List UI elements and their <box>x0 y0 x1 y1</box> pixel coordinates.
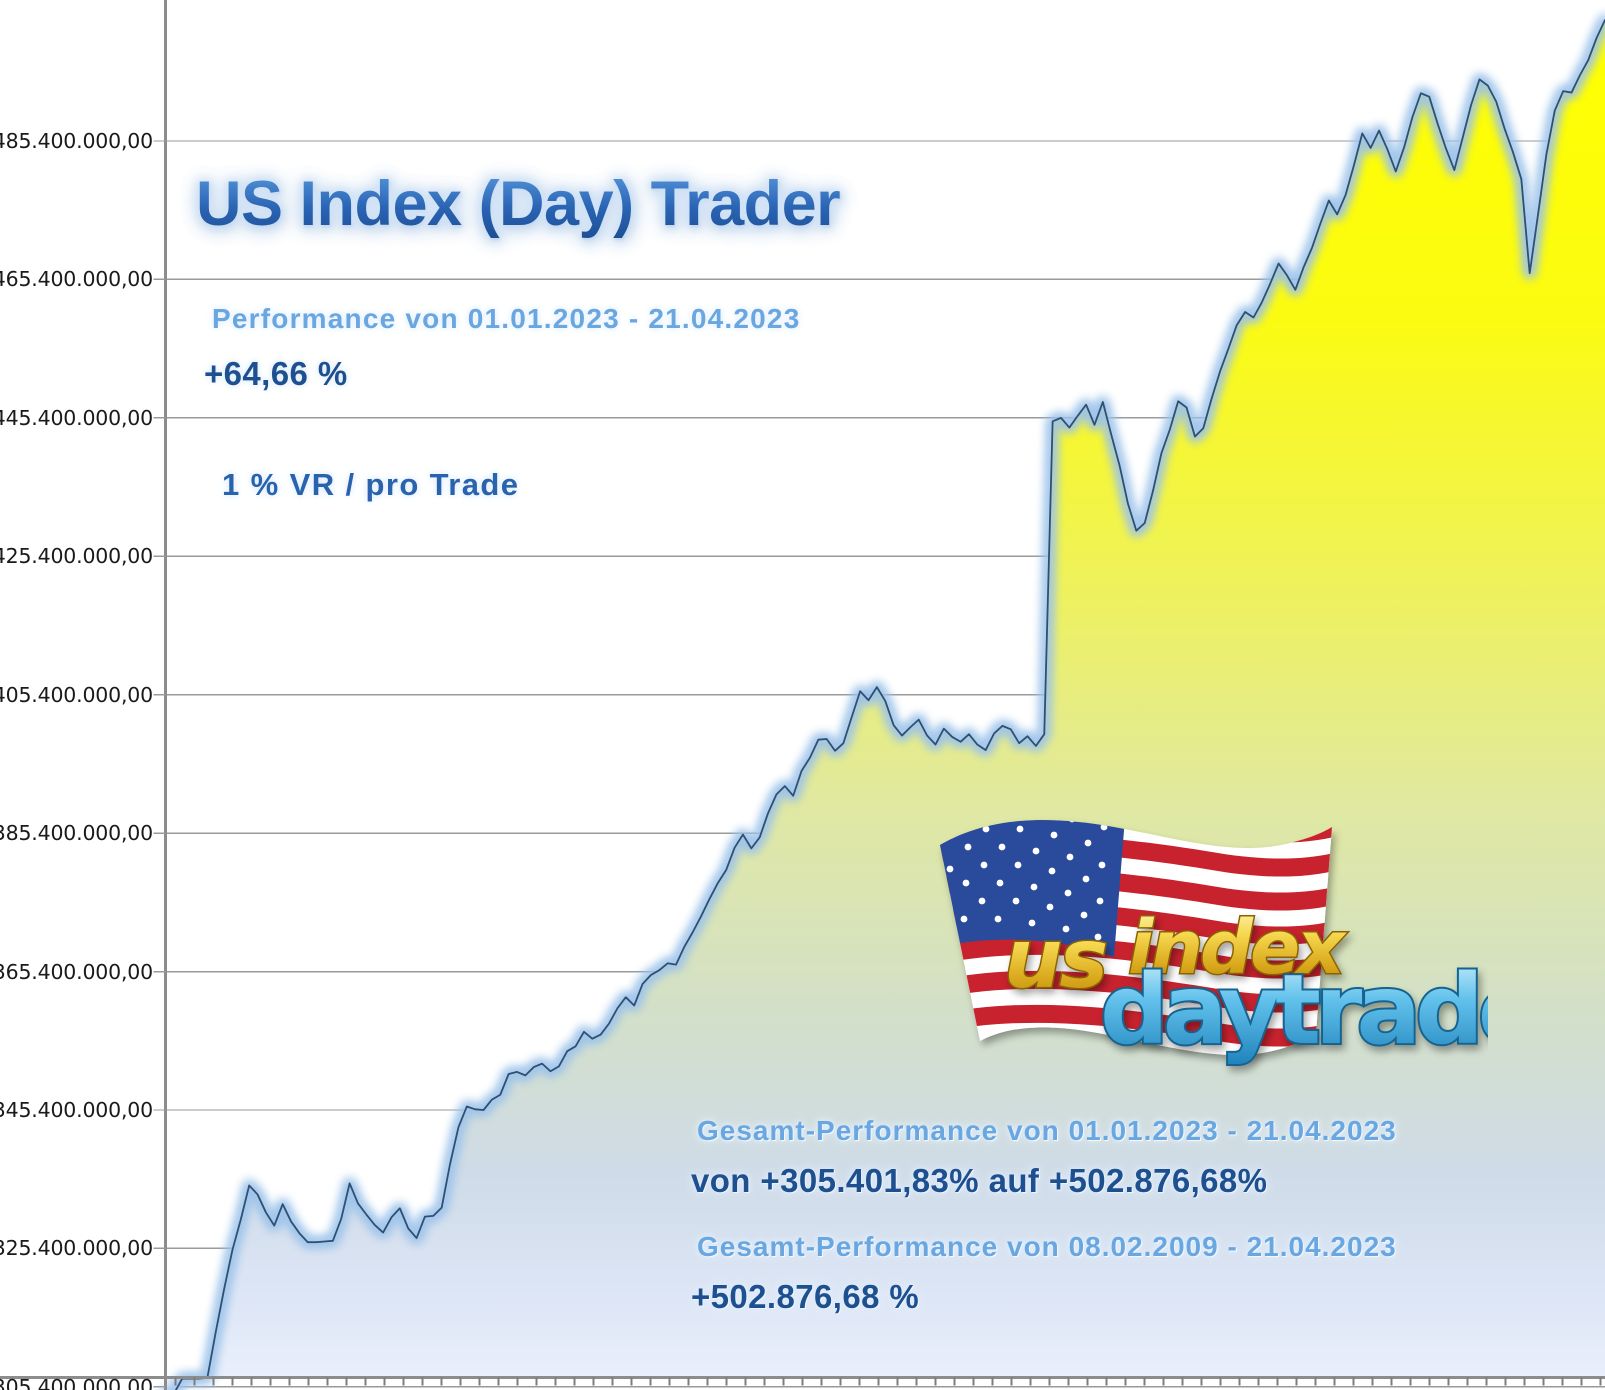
y-axis-tick-label: 485.400.000,00 <box>0 129 153 153</box>
y-axis-tick-label: 325.400.000,00 <box>0 1236 153 1260</box>
y-axis-tick-label: 305.400.000,00 <box>0 1375 153 1390</box>
y-axis-tick-label: 405.400.000,00 <box>0 683 153 707</box>
performance-period-label: Performance von 01.01.2023 - 21.04.2023 <box>212 303 800 335</box>
y-axis-tick-label: 385.400.000,00 <box>0 821 153 845</box>
y-axis-tick-label: 365.400.000,00 <box>0 960 153 984</box>
total-performance-label-1: Gesamt-Performance von 01.01.2023 - 21.0… <box>697 1115 1397 1147</box>
y-axis-ticks <box>154 141 166 1387</box>
y-axis-tick-label: 465.400.000,00 <box>0 267 153 291</box>
total-performance-value-2: +502.876,68 % <box>691 1278 919 1316</box>
total-performance-value-1: von +305.401,83% auf +502.876,68% <box>691 1162 1267 1200</box>
risk-per-trade-note: 1 % VR / pro Trade <box>222 467 519 503</box>
total-performance-label-2: Gesamt-Performance von 08.02.2009 - 21.0… <box>697 1231 1397 1263</box>
y-axis-tick-label: 345.400.000,00 <box>0 1098 153 1122</box>
y-axis-tick-label: 445.400.000,00 <box>0 406 153 430</box>
page-title: US Index (Day) Trader <box>196 168 840 240</box>
chart-page: 485.400.000,00465.400.000,00445.400.000,… <box>0 0 1605 1390</box>
y-axis-tick-label: 425.400.000,00 <box>0 544 153 568</box>
performance-value: +64,66 % <box>204 355 348 393</box>
